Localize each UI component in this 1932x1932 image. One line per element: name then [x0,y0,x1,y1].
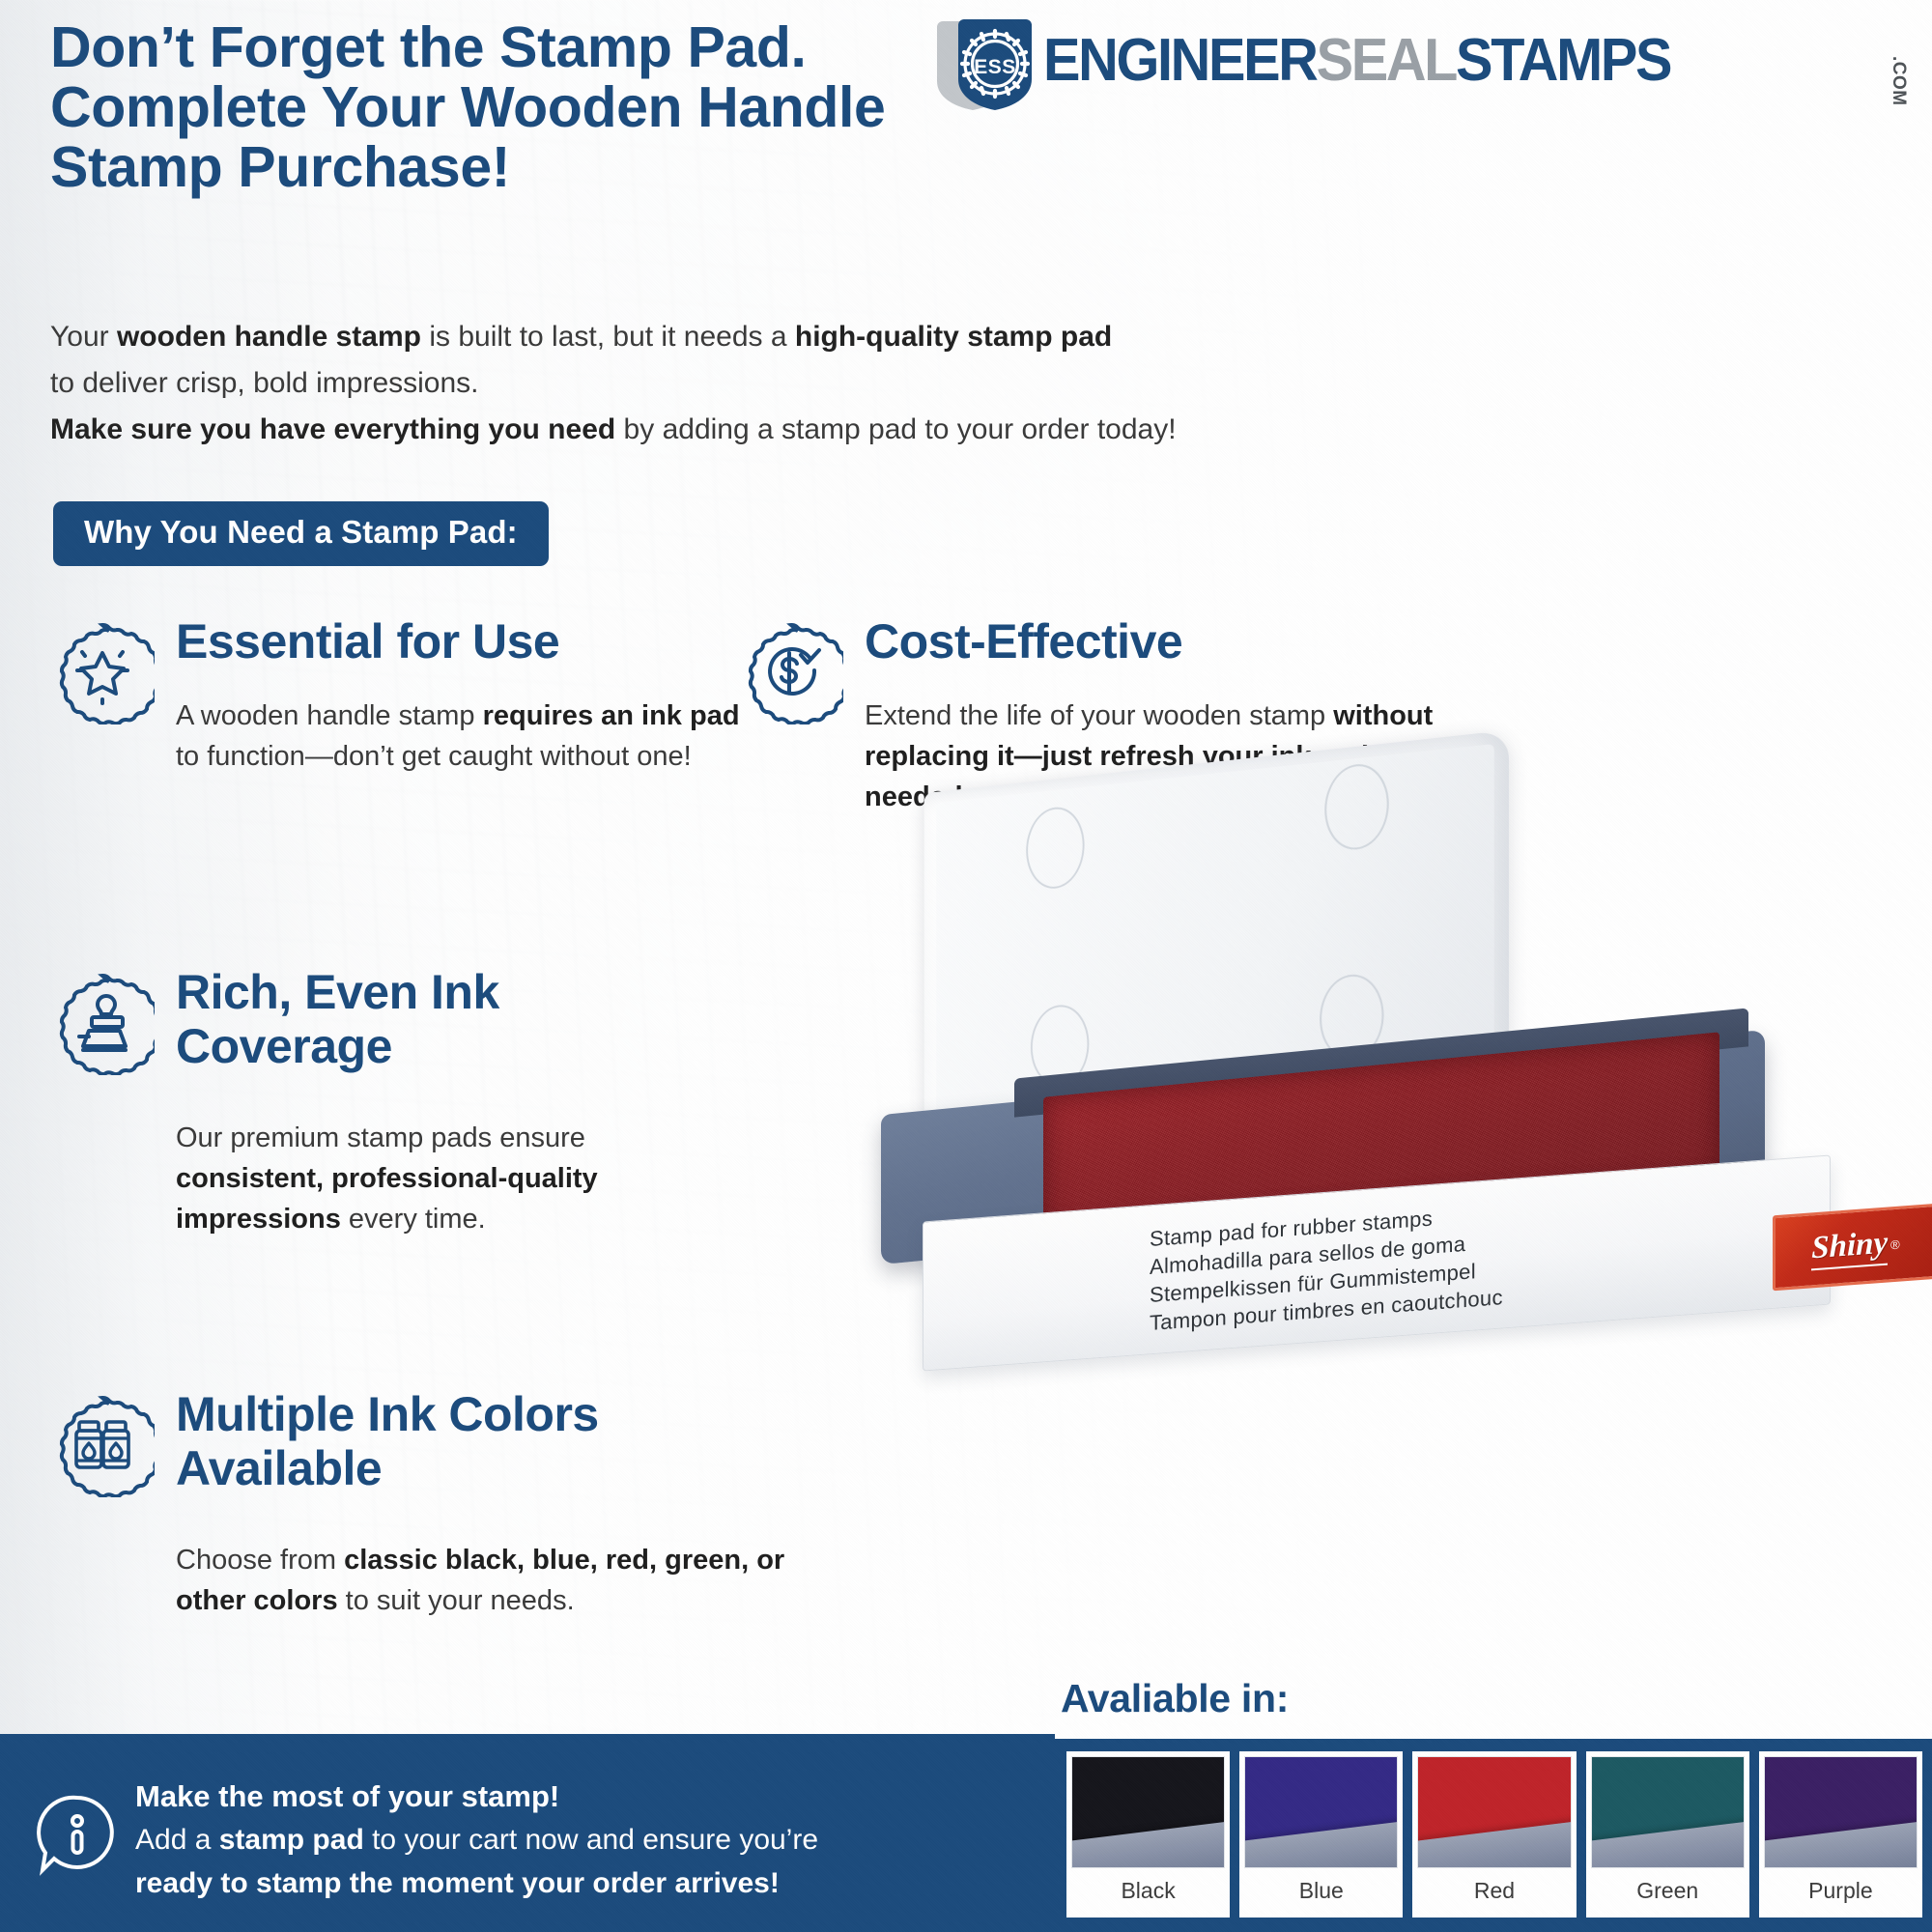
logo-wordmark: ENGINEERSEALSTAMPS [1043,31,1670,91]
swatch-red[interactable]: Red [1412,1751,1576,1918]
intro-l1-b: wooden handle stamp [117,321,421,353]
cta-line-2-a: Add a [135,1824,219,1856]
feature-body-b: requires an ink pad [483,700,740,731]
swatch-label: Blue [1244,1868,1398,1913]
swatch-image [1417,1756,1571,1868]
infographic-page: Don’t Forget the Stamp Pad. Complete You… [0,0,1932,1932]
page-title: Don’t Forget the Stamp Pad. Complete You… [50,17,949,197]
feature-body-a: Extend the life of your wooden stamp [865,700,1333,731]
ink-bottles-badge-icon [50,1393,155,1497]
feature-title: Rich, Even Ink Coverage [176,965,678,1073]
headline-line-3: Stamp Purchase! [50,137,949,197]
cta-line-2: Add a stamp pad to your cart now and ens… [135,1818,1024,1861]
feature-body-c: to suit your needs. [338,1585,575,1616]
feature-body: Our premium stamp pads ensure consistent… [176,1118,736,1239]
star-badge-icon [50,620,155,724]
cta-line-1: Make the most of your stamp! [135,1775,1024,1818]
cta-bar: Make the most of your stamp! Add a stamp… [0,1734,1055,1932]
swatch-label: Red [1417,1868,1571,1913]
logo-word-seal: SEAL [1317,27,1456,94]
cta-line-2-c: to your cart now and ensure you’re [364,1824,818,1856]
color-swatch-strip: Black Blue Red [1055,1739,1932,1932]
logo-word-stamps: STAMPS [1456,27,1670,94]
swatch-image [1591,1756,1745,1868]
shiny-brand-name: Shiny [1811,1225,1888,1270]
intro-paragraph: Your wooden handle stamp is built to las… [50,314,1403,453]
intro-l1-c: is built to last, but it needs a [421,321,795,353]
swatch-purple[interactable]: Purple [1759,1751,1922,1918]
intro-line-1: Your wooden handle stamp is built to las… [50,314,1403,360]
swatch-image [1764,1756,1918,1868]
cta-line-3: ready to stamp the moment your order arr… [135,1861,1024,1905]
feature-body-a: Choose from [176,1545,344,1576]
logo-tld: .COM [1888,56,1909,106]
brand-logo[interactable]: ESS ENGINEERSEALSTAMPS .COM [935,17,1911,112]
info-bubble-icon [35,1792,120,1877]
feature-body: Choose from classic black, blue, red, gr… [176,1540,833,1621]
intro-l3-a: Make sure you have everything you need [50,413,615,445]
feature-title: Cost-Effective [865,614,1444,668]
feature-body-c: every time. [341,1204,486,1235]
svg-text:ESS: ESS [974,56,1016,78]
cta-line-2-b: stamp pad [219,1824,364,1856]
swatch-green[interactable]: Green [1586,1751,1749,1918]
shiny-registered-mark: ® [1890,1236,1900,1252]
swatch-image [1071,1756,1225,1868]
logo-word-engineer: ENGINEER [1043,27,1317,94]
swatch-label: Purple [1764,1868,1918,1913]
headline-line-2: Complete Your Wooden Handle [50,77,949,137]
section-banner: Why You Need a Stamp Pad: [53,501,549,566]
intro-l3-b: by adding a stamp pad to your order toda… [615,413,1176,445]
feature-body-a: A wooden handle stamp [176,700,483,731]
swatch-image [1244,1756,1398,1868]
intro-l1-a: Your [50,321,117,353]
intro-line-3: Make sure you have everything you need b… [50,407,1403,453]
stamp-pad-product-photo: Stamp pad for rubber stamps Almohadilla … [869,753,1893,1343]
ess-gear-shield-icon: ESS [935,17,1043,110]
headline-line-1: Don’t Forget the Stamp Pad. [50,17,949,77]
swatch-label: Green [1591,1868,1745,1913]
feature-title: Multiple Ink Colors Available [176,1387,755,1495]
shiny-brand-logo: Shiny® [1773,1204,1932,1292]
feature-body-c: to function—don’t get caught without one… [176,741,692,772]
feature-title: Essential for Use [176,614,794,668]
feature-body-a: Our premium stamp pads ensure [176,1122,585,1153]
swatch-blue[interactable]: Blue [1239,1751,1403,1918]
available-in-title: Avaliable in: [1061,1676,1289,1721]
dollar-check-badge-icon [739,620,843,724]
rubber-stamp-badge-icon [50,971,155,1075]
swatch-black[interactable]: Black [1066,1751,1230,1918]
swatch-label: Black [1071,1868,1225,1913]
intro-line-2: to deliver crisp, bold impressions. [50,360,1403,407]
cta-text: Make the most of your stamp! Add a stamp… [135,1775,1024,1905]
feature-body: A wooden handle stamp requires an ink pa… [176,696,765,777]
intro-l1-d: high-quality stamp pad [795,321,1112,353]
